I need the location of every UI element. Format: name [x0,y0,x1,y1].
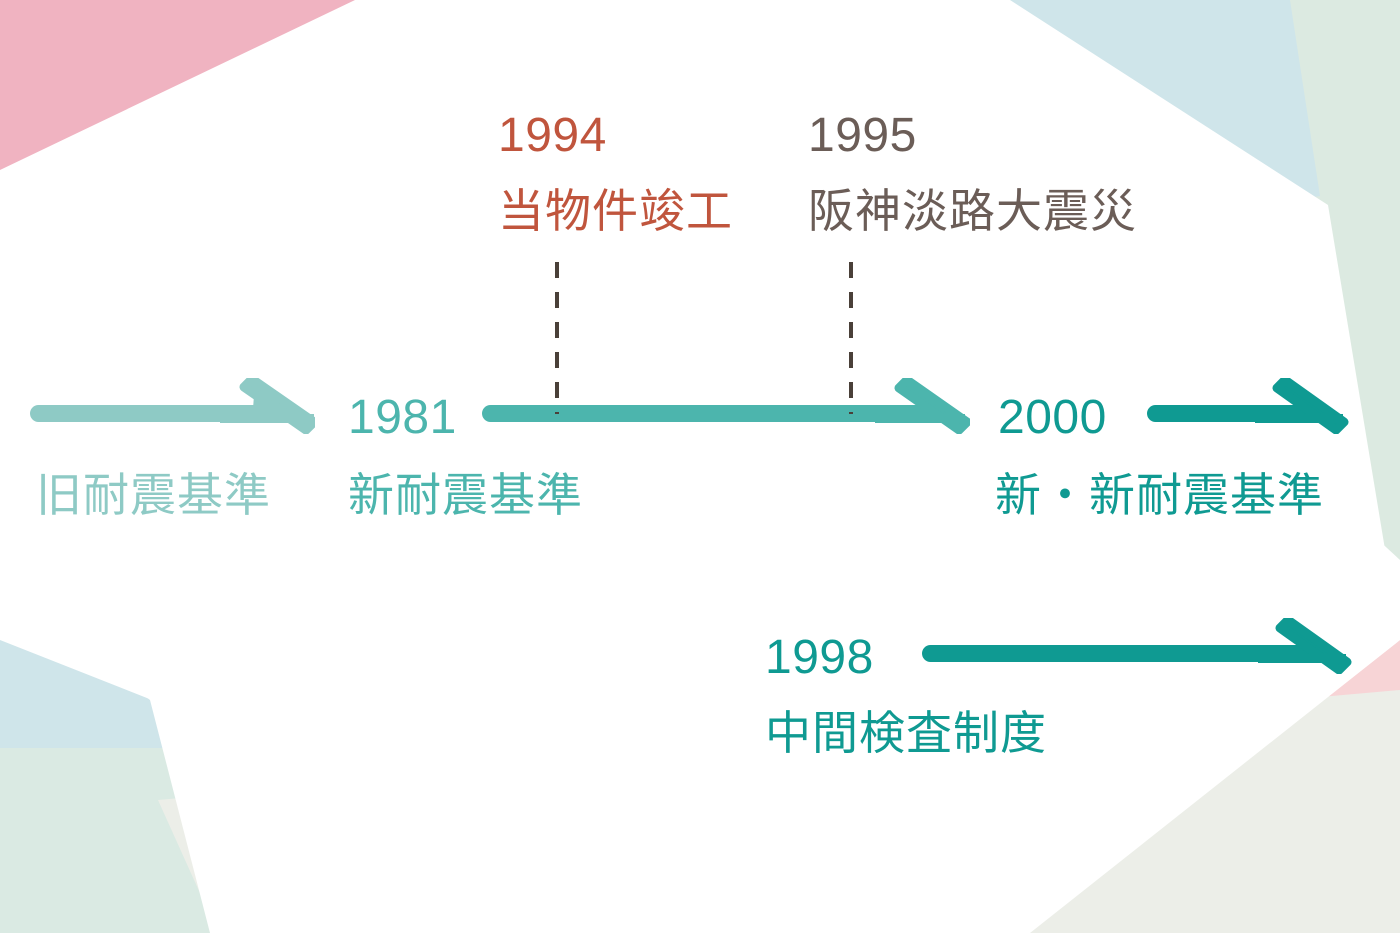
arrow-newest-standard-2000 [1145,378,1350,434]
timeline-diagram: 旧耐震基準 1981 新耐震基準 1994 当物件竣工 1995 阪神淡路大震災… [0,0,1400,933]
label-1981-new-standard: 新耐震基準 [348,472,583,518]
year-1995: 1995 [808,112,917,160]
year-1981: 1981 [348,394,457,442]
dashed-connector-1995 [845,262,857,414]
year-1998: 1998 [765,634,874,682]
arrow-interim-inspection-1998 [920,618,1352,674]
label-1994-property-completed: 当物件竣工 [498,188,733,234]
year-2000: 2000 [998,394,1107,442]
label-1995-hanshin-awaji-earthquake: 阪神淡路大震災 [808,188,1137,234]
arrow-old-standard [30,378,315,434]
label-old-standard: 旧耐震基準 [36,472,271,518]
label-2000-newest-standard: 新・新耐震基準 [995,472,1324,518]
dashed-connector-1994 [551,262,563,414]
year-1994: 1994 [498,112,607,160]
label-1998-interim-inspection: 中間検査制度 [765,710,1047,756]
